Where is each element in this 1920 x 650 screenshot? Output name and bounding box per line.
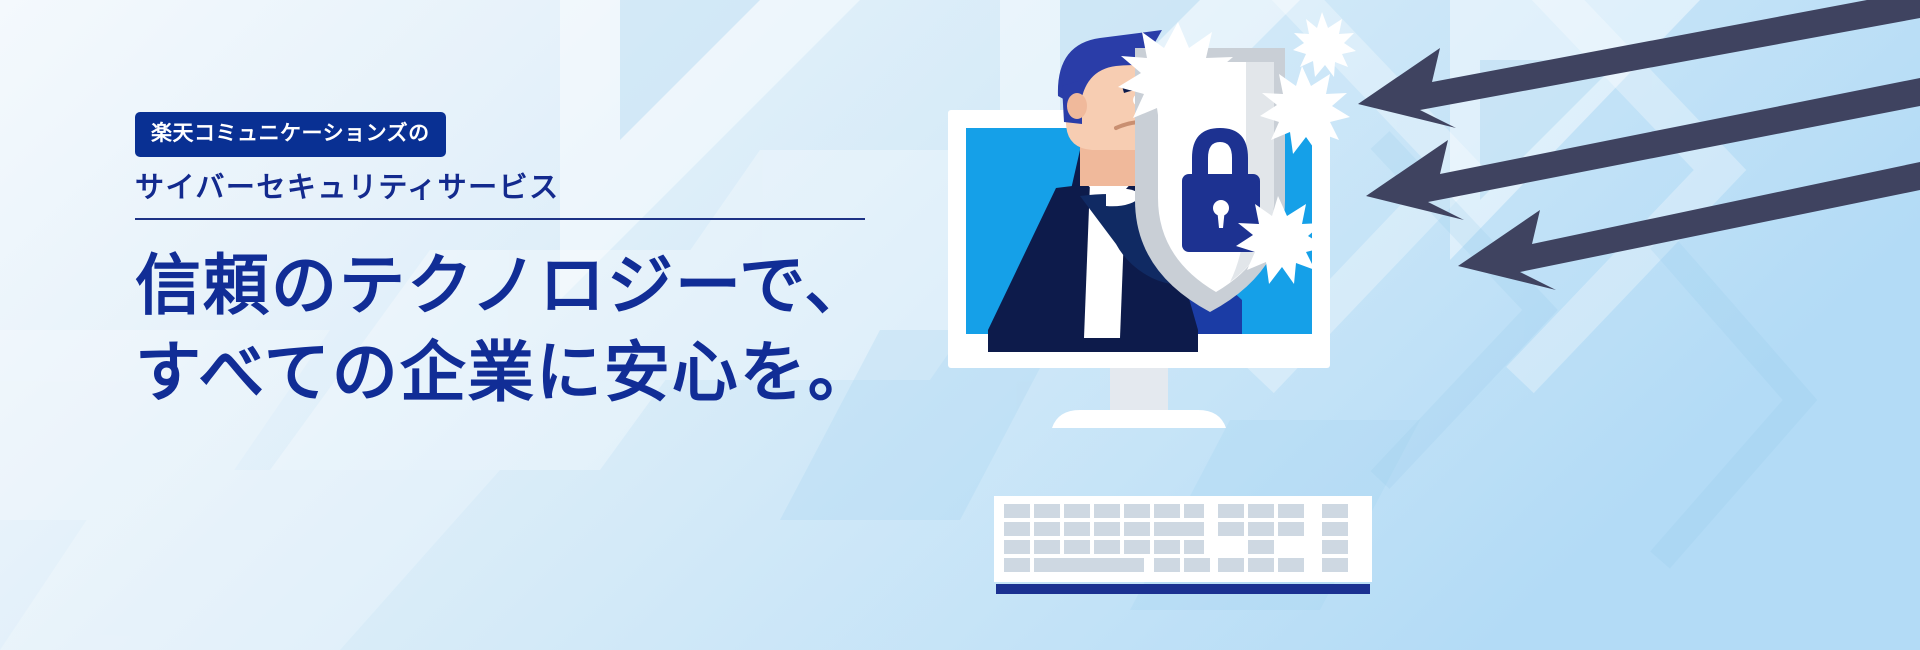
hero-text-block: 楽天コミュニケーションズの サイバーセキュリティサービス 信頼のテクノロジーで、… xyxy=(135,112,895,460)
monitor-stand-base xyxy=(1052,410,1226,428)
character-ear xyxy=(1067,93,1087,119)
page-title: 信頼のテクノロジーで、 すべての企業に安心を。 xyxy=(135,242,895,416)
attack-arrows xyxy=(1280,0,1920,300)
divider-rule xyxy=(135,218,865,220)
service-subtitle: サイバーセキュリティサービス xyxy=(135,171,895,206)
brand-badge: 楽天コミュニケーションズの xyxy=(135,112,446,157)
headline-line-1: 信頼のテクノロジーで、 xyxy=(135,242,895,329)
keyboard-bar xyxy=(996,584,1370,594)
headline-line-2: すべての企業に安心を。 xyxy=(135,329,895,416)
monitor-stand-neck xyxy=(1110,368,1168,410)
computer-keyboard xyxy=(994,496,1372,594)
hero-banner: 楽天コミュニケーションズの サイバーセキュリティサービス 信頼のテクノロジーで、… xyxy=(0,0,1920,650)
